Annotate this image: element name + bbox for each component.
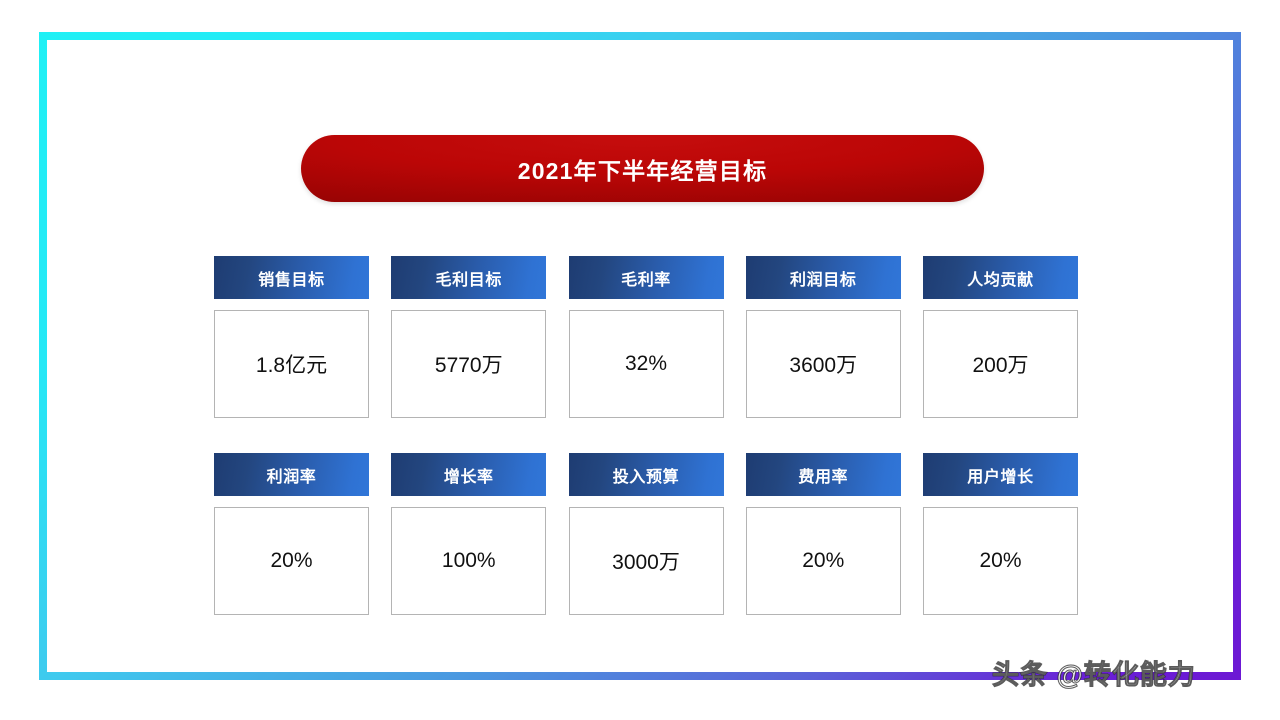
metric-label: 利润率: [267, 463, 317, 487]
watermark-text: 头条 @转化能力: [992, 653, 1196, 692]
metric-label: 利润目标: [790, 266, 856, 290]
metric-row-2: 利润率 20% 增长率 100% 投入预算 3000万 费用率: [214, 453, 1078, 615]
metric-box-profit-margin: 20%: [214, 507, 369, 615]
metric-box-expense-ratio: 20%: [746, 507, 901, 615]
metric-value: 20%: [270, 549, 312, 573]
metric-header-profit-target: 利润目标: [746, 256, 901, 299]
metric-cell-user-growth: 用户增长 20%: [923, 453, 1078, 615]
metric-cell-investment-budget: 投入预算 3000万: [569, 453, 724, 615]
metric-value: 20%: [802, 549, 844, 573]
metric-label: 用户增长: [967, 463, 1033, 487]
slide-canvas: 2021年下半年经营目标 销售目标 1.8亿元 毛利目标 5770万 毛利率 3: [0, 0, 1280, 720]
metric-cell-gross-margin: 毛利率 32%: [569, 256, 724, 418]
metric-cell-per-capita-contribution: 人均贡献 200万: [923, 256, 1078, 418]
metric-header-profit-margin: 利润率: [214, 453, 369, 496]
metric-box-sales-target: 1.8亿元: [214, 310, 369, 418]
metric-box-investment-budget: 3000万: [569, 507, 724, 615]
metric-label: 毛利目标: [436, 266, 502, 290]
metric-value: 200万: [972, 349, 1028, 379]
metric-header-growth-rate: 增长率: [391, 453, 546, 496]
metric-header-investment-budget: 投入预算: [569, 453, 724, 496]
metric-box-user-growth: 20%: [923, 507, 1078, 615]
metric-box-profit-target: 3600万: [746, 310, 901, 418]
metric-box-gross-profit-target: 5770万: [391, 310, 546, 418]
metric-label: 人均贡献: [967, 266, 1033, 290]
metric-value: 20%: [979, 549, 1021, 573]
metric-label: 费用率: [798, 463, 848, 487]
metric-value: 1.8亿元: [256, 349, 327, 379]
metric-value: 3000万: [612, 546, 680, 576]
metric-cell-profit-margin: 利润率 20%: [214, 453, 369, 615]
metric-cell-profit-target: 利润目标 3600万: [746, 256, 901, 418]
metric-header-user-growth: 用户增长: [923, 453, 1078, 496]
metric-header-sales-target: 销售目标: [214, 256, 369, 299]
metric-header-gross-profit-target: 毛利目标: [391, 256, 546, 299]
metric-value: 3600万: [789, 349, 857, 379]
metric-box-per-capita-contribution: 200万: [923, 310, 1078, 418]
metric-value: 5770万: [435, 349, 503, 379]
metric-header-per-capita-contribution: 人均贡献: [923, 256, 1078, 299]
metric-label: 毛利率: [621, 266, 671, 290]
metric-label: 投入预算: [613, 463, 679, 487]
metric-header-gross-margin: 毛利率: [569, 256, 724, 299]
metric-label: 销售目标: [258, 266, 324, 290]
metric-cell-expense-ratio: 费用率 20%: [746, 453, 901, 615]
metric-box-gross-margin: 32%: [569, 310, 724, 418]
metric-cell-gross-profit-target: 毛利目标 5770万: [391, 256, 546, 418]
metric-box-growth-rate: 100%: [391, 507, 546, 615]
watermark: 头条 @转化能力: [992, 653, 1196, 692]
metric-label: 增长率: [444, 463, 494, 487]
metric-cell-growth-rate: 增长率 100%: [391, 453, 546, 615]
metric-value: 100%: [442, 549, 496, 573]
metric-row-1: 销售目标 1.8亿元 毛利目标 5770万 毛利率 32% 利润目标: [214, 256, 1078, 418]
page-title: 2021年下半年经营目标: [518, 152, 768, 186]
title-pill: 2021年下半年经营目标: [301, 135, 984, 202]
metric-value: 32%: [625, 352, 667, 376]
metric-header-expense-ratio: 费用率: [746, 453, 901, 496]
metric-cell-sales-target: 销售目标 1.8亿元: [214, 256, 369, 418]
